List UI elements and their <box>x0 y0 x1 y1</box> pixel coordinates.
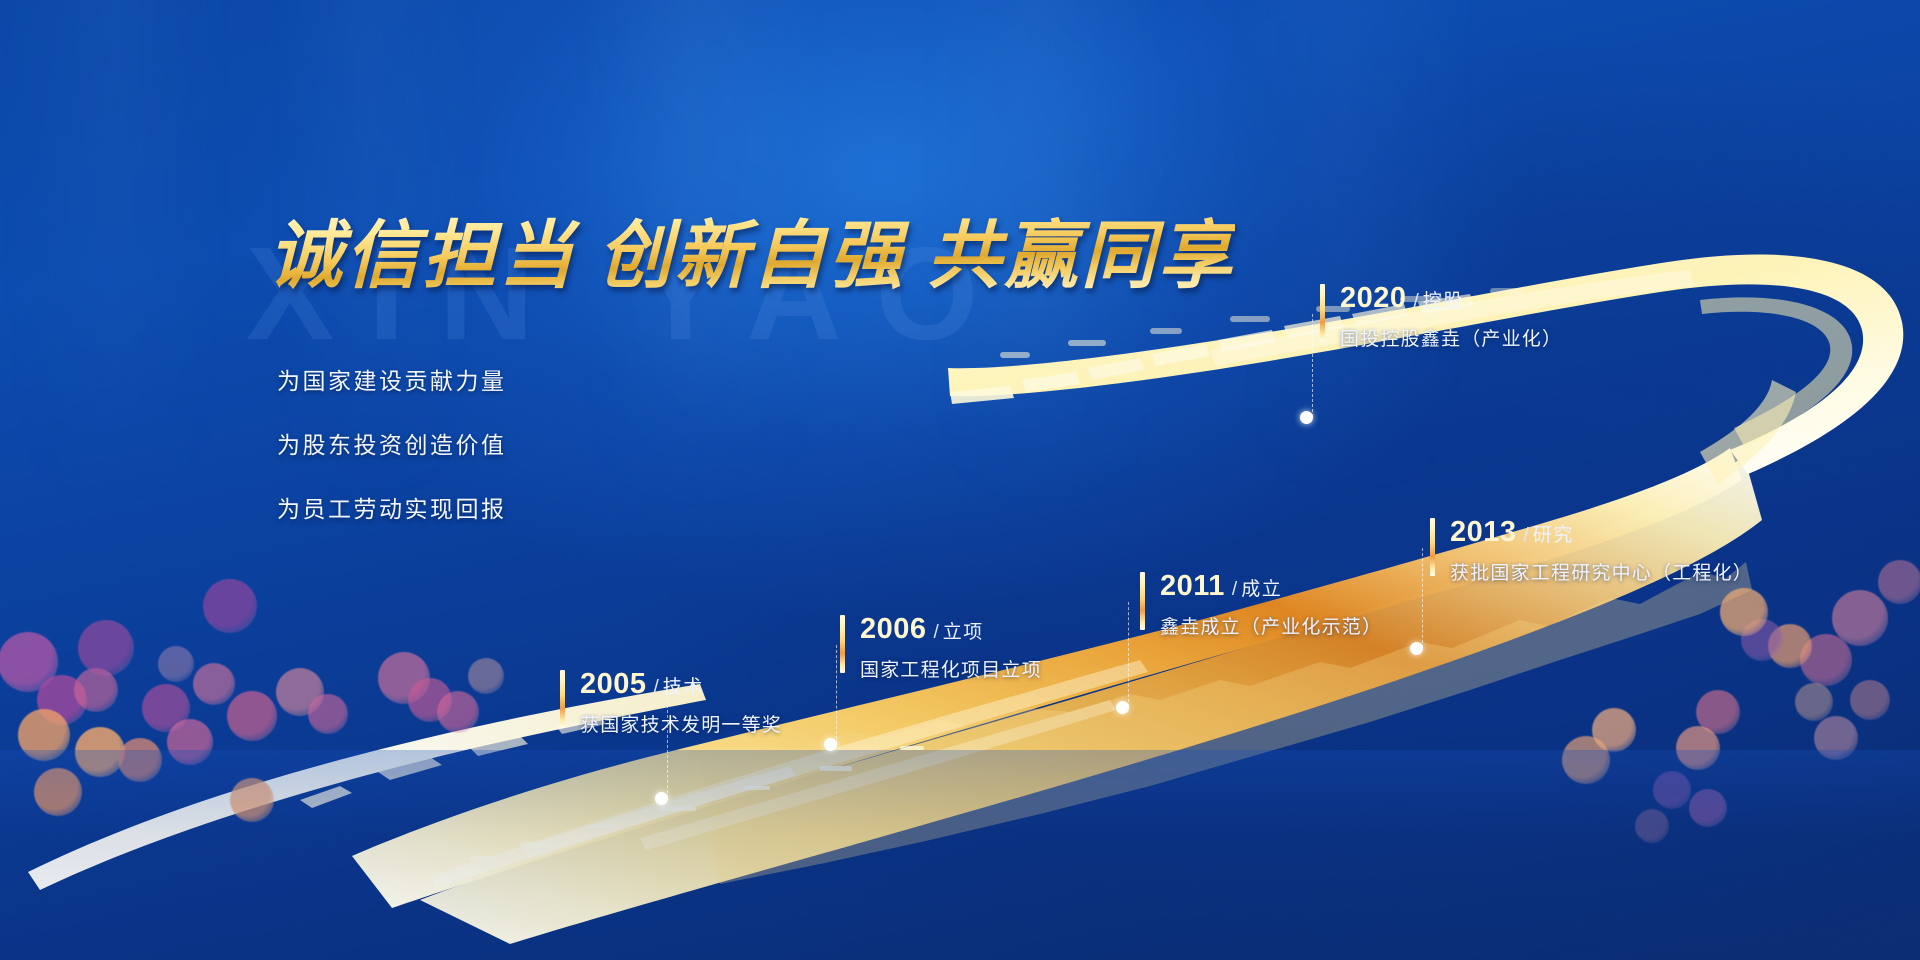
timeline-dot-2006[interactable] <box>824 738 837 751</box>
slogan-item: 为国家建设贡献力量 <box>277 362 507 396</box>
bokeh-circle <box>158 646 194 682</box>
bokeh-circle <box>378 652 430 704</box>
bokeh-circle <box>167 719 213 765</box>
bokeh-circle <box>1878 560 1920 604</box>
slogan-item: 为股东投资创造价值 <box>277 426 507 460</box>
timeline-separator: / <box>654 677 659 698</box>
timeline-description: 鑫垚成立（产业化示范） <box>1160 612 1382 639</box>
timeline-label-group: 2011/成立鑫垚成立（产业化示范） <box>1160 570 1382 639</box>
timeline-connector-2006 <box>836 645 837 744</box>
timeline-description: 获国家技术发明一等奖 <box>580 710 782 737</box>
timeline-dot-2020[interactable] <box>1300 411 1313 424</box>
timeline-separator: / <box>1414 291 1419 312</box>
bokeh-circle <box>230 778 274 822</box>
timeline-separator: / <box>934 622 939 643</box>
timeline-year: 2011 <box>1160 570 1225 602</box>
bokeh-circle <box>75 727 125 777</box>
bokeh-circle <box>18 709 70 761</box>
timeline-description: 获批国家工程研究中心（工程化） <box>1450 558 1753 585</box>
bokeh-circle <box>1696 690 1740 734</box>
bokeh-circle <box>1689 789 1727 827</box>
timeline-accent-bar <box>560 670 565 728</box>
bottom-gradient-band <box>0 750 1920 960</box>
bokeh-circle <box>308 694 348 734</box>
timeline-label-group: 2020/控股国投控股鑫垚（产业化） <box>1340 282 1562 351</box>
bokeh-circle <box>203 579 257 633</box>
slogan-item: 为员工劳动实现回报 <box>277 490 507 524</box>
slogan-list: 为国家建设贡献力量 为股东投资创造价值 为员工劳动实现回报 <box>277 362 507 554</box>
timeline-tag: 技术 <box>663 677 704 698</box>
bokeh-circle <box>142 684 190 732</box>
timeline-year: 2006 <box>860 613 927 645</box>
timeline-connector-2011 <box>1128 602 1129 707</box>
bokeh-circle <box>1676 726 1720 770</box>
timeline-year: 2005 <box>580 668 647 700</box>
bokeh-circle <box>78 620 134 676</box>
bokeh-circle <box>1741 619 1783 661</box>
page-title: 诚信担当 创新自强 共赢同享 <box>268 196 1235 303</box>
bokeh-circle <box>1832 590 1888 646</box>
timeline-tag: 控股 <box>1423 291 1464 312</box>
bokeh-circle <box>1800 634 1852 686</box>
timeline-tag: 立项 <box>943 622 984 643</box>
timeline-description: 国投控股鑫垚（产业化） <box>1340 324 1562 351</box>
bokeh-circle <box>1653 771 1691 809</box>
timeline-separator: / <box>1524 525 1529 546</box>
banner-stage: XIN YAO 诚信担当 创新自强 共赢同享 为国家建设贡献力量 为股东投资创造… <box>0 0 1920 960</box>
bokeh-circle <box>1795 683 1833 721</box>
bokeh-circle <box>193 663 235 705</box>
timeline-tag: 研究 <box>1533 525 1574 546</box>
timeline-accent-bar <box>1140 572 1145 630</box>
bokeh-circle <box>468 658 504 694</box>
timeline-label-group: 2006/立项国家工程化项目立项 <box>860 613 1042 682</box>
timeline-connector-2013 <box>1422 548 1423 648</box>
timeline-year: 2020 <box>1340 282 1407 314</box>
timeline-connector-2020 <box>1312 314 1313 417</box>
timeline-accent-bar <box>840 615 845 673</box>
bokeh-circle <box>1635 809 1669 843</box>
bokeh-circle <box>408 678 452 722</box>
timeline-headline-row: 2006/立项 <box>860 613 1042 646</box>
bokeh-circle <box>276 668 324 716</box>
timeline-headline-row: 2005/技术 <box>580 668 782 701</box>
bokeh-circle <box>118 738 162 782</box>
timeline-label-group: 2005/技术获国家技术发明一等奖 <box>580 668 782 737</box>
timeline-dot-2011[interactable] <box>1116 701 1129 714</box>
bokeh-circle <box>1592 708 1636 752</box>
bokeh-circle <box>1720 588 1768 636</box>
bokeh-circle <box>74 668 118 712</box>
timeline-tag: 成立 <box>1241 579 1282 600</box>
timeline-separator: / <box>1232 579 1237 600</box>
bokeh-circle <box>1814 716 1858 760</box>
timeline-headline-row: 2011/成立 <box>1160 570 1382 603</box>
timeline-year: 2013 <box>1450 516 1517 548</box>
bokeh-circle <box>37 675 87 725</box>
bokeh-circle <box>1562 736 1610 784</box>
bokeh-circle <box>227 691 277 741</box>
bokeh-circle <box>437 691 479 733</box>
bokeh-circle <box>1850 680 1890 720</box>
bokeh-circle <box>1768 624 1812 668</box>
timeline-dot-2005[interactable] <box>655 792 668 805</box>
bokeh-circle <box>34 768 82 816</box>
timeline-dot-2013[interactable] <box>1410 642 1423 655</box>
bokeh-circle <box>0 632 58 692</box>
timeline-accent-bar <box>1430 518 1435 576</box>
timeline-label-group: 2013/研究获批国家工程研究中心（工程化） <box>1450 516 1753 585</box>
timeline-description: 国家工程化项目立项 <box>860 655 1042 682</box>
timeline-headline-row: 2013/研究 <box>1450 516 1753 549</box>
timeline-accent-bar <box>1320 284 1325 342</box>
timeline-headline-row: 2020/控股 <box>1340 282 1562 315</box>
